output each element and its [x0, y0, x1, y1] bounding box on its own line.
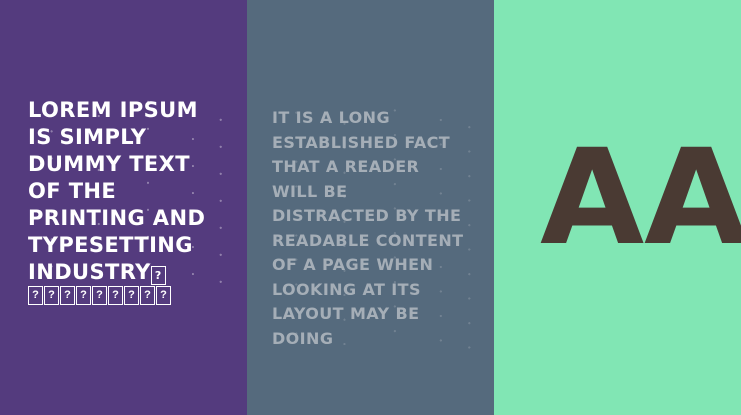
body-line-8: LOOKING AT ITS [272, 278, 487, 303]
body-line-4: WILL BE [272, 180, 487, 205]
missing-glyph-icon: ? [156, 286, 171, 305]
missing-glyph-row: ? ? ? ? ? ? ? ? ? [28, 286, 238, 305]
body-line-1: IT IS A LONG [272, 106, 487, 131]
font-specimen-preview: LOREM IPSUM IS SIMPLY DUMMY TEXT OF THE … [0, 0, 741, 415]
body-line-7: OF A PAGE WHEN [272, 253, 487, 278]
headline-line-4: OF THE [28, 178, 238, 205]
missing-glyph-icon: ? [92, 286, 107, 305]
headline-line-6: TYPESETTING [28, 232, 238, 259]
missing-glyph-icon: ? [124, 286, 139, 305]
glyph-letter-a-1: A [540, 146, 642, 250]
glyph-showcase-block: A A [540, 146, 690, 252]
headline-line-3: DUMMY TEXT [28, 151, 238, 178]
body-line-10: DOING [272, 327, 487, 352]
missing-glyph-icon: ? [140, 286, 155, 305]
missing-glyph-icon: ? [60, 286, 75, 305]
headline-line-5: PRINTING AND [28, 205, 238, 232]
headline-line-2: IS SIMPLY [28, 124, 238, 151]
body-line-3: THAT A READER [272, 155, 487, 180]
headline-line-7: INDUSTRY? [28, 259, 238, 286]
headline-line-7-text: INDUSTRY [28, 260, 151, 284]
headline-line-1: LOREM IPSUM [28, 97, 238, 124]
glyph-letter-a-2: A [644, 146, 741, 250]
body-line-5: DISTRACTED BY THE [272, 204, 487, 229]
body-copy-text-block: IT IS A LONG ESTABLISHED FACT THAT A REA… [272, 106, 487, 351]
missing-glyph-icon: ? [108, 286, 123, 305]
missing-glyph-icon: ? [44, 286, 59, 305]
missing-glyph-icon: ? [151, 266, 166, 285]
body-line-6: READABLE CONTENT [272, 229, 487, 254]
body-line-2: ESTABLISHED FACT [272, 131, 487, 156]
missing-glyph-icon: ? [76, 286, 91, 305]
headline-text-block: LOREM IPSUM IS SIMPLY DUMMY TEXT OF THE … [28, 97, 238, 305]
body-line-9: LAYOUT MAY BE [272, 302, 487, 327]
missing-glyph-icon: ? [28, 286, 43, 305]
